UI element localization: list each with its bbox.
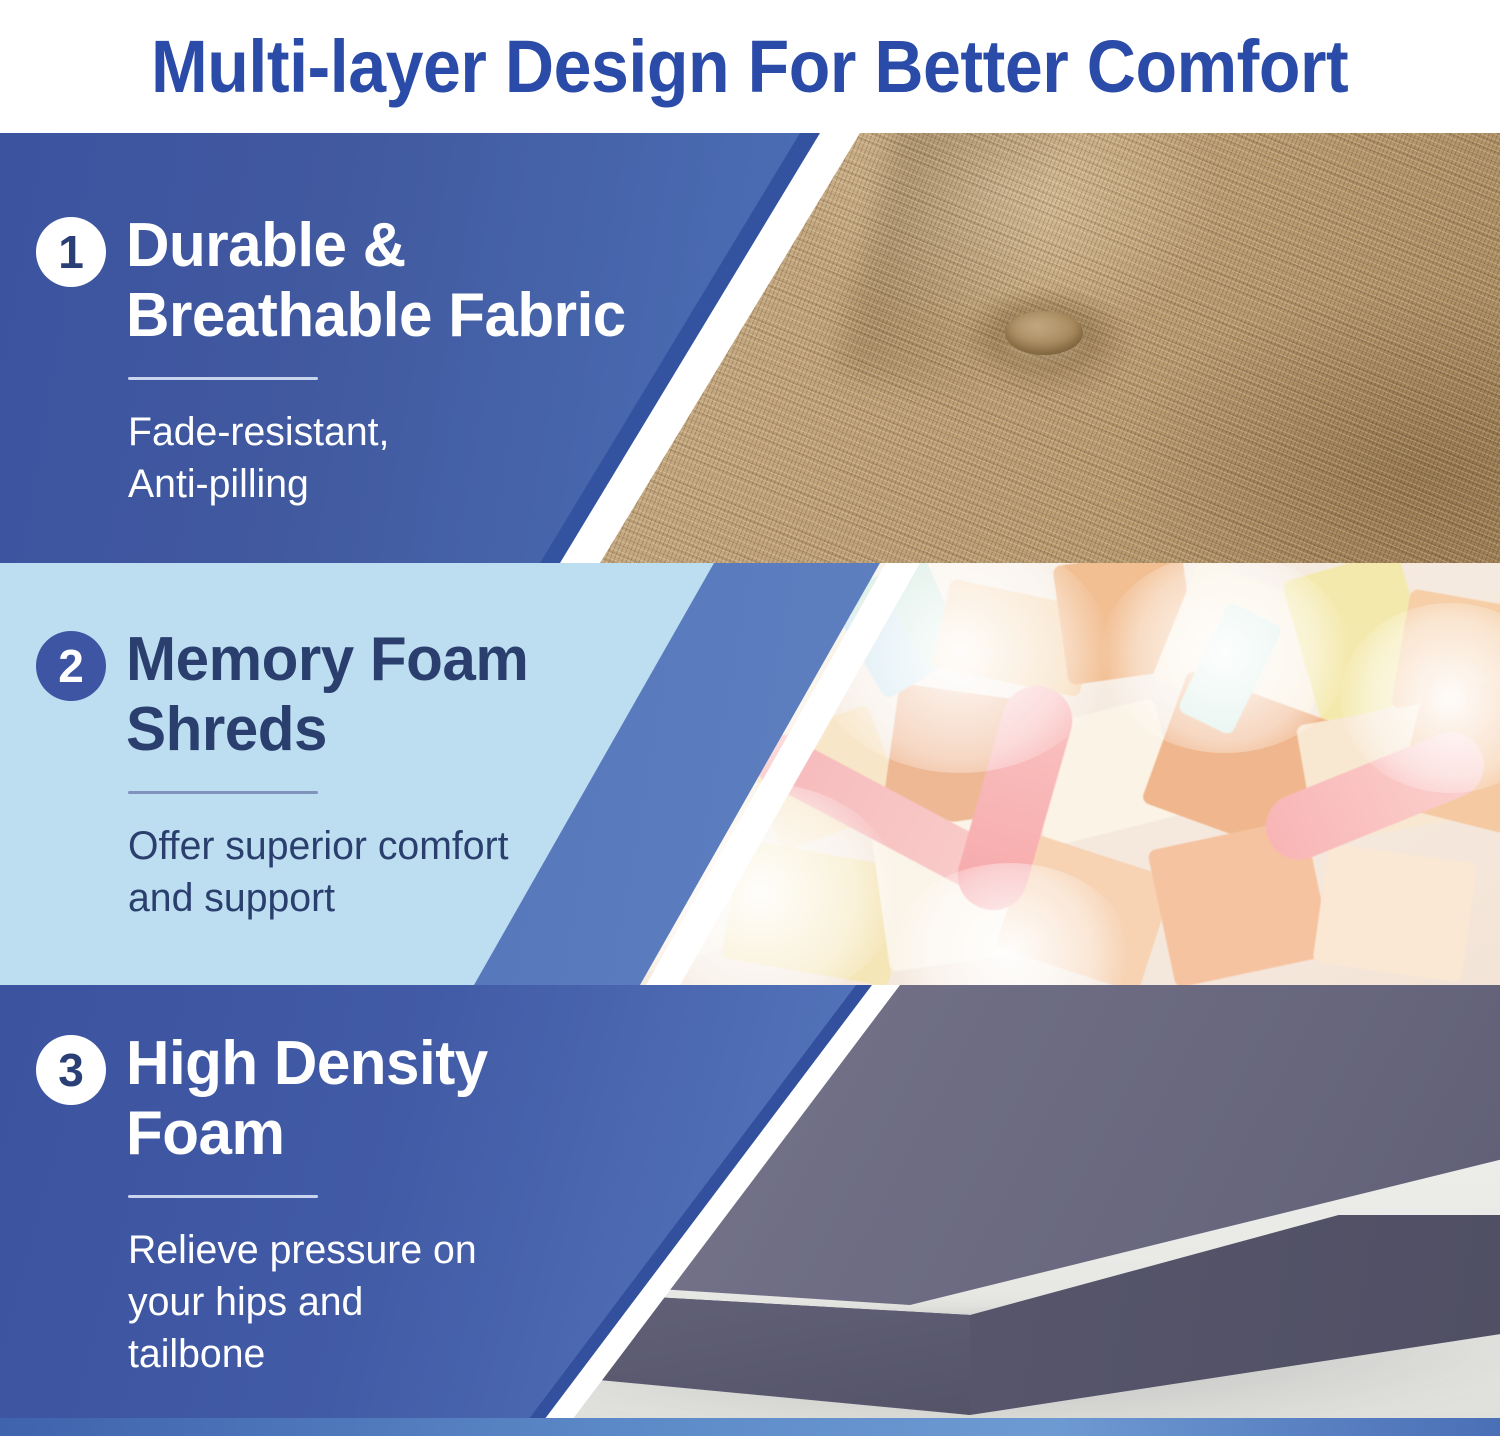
feature-3-heading-line-2: Foam	[126, 1099, 488, 1169]
feature-3-subtext-line-2: your hips and	[128, 1276, 645, 1328]
feature-3-head-row: 3 High Density Foam	[36, 1029, 656, 1169]
feature-2-subtext-line-1: Offer superior comfort	[128, 820, 645, 872]
feature-2-head-row: 2 Memory Foam Shreds	[36, 625, 656, 765]
feature-1-heading-line-2: Breathable Fabric	[126, 281, 626, 351]
feature-section-3: 3 High Density Foam Relieve pressure on …	[0, 985, 1500, 1436]
feature-2-subtext: Offer superior comfort and support	[128, 820, 645, 924]
feature-1-subtext-line-2: Anti-pilling	[128, 458, 645, 510]
feature-3-divider	[128, 1195, 318, 1198]
page-title: Multi-layer Design For Better Comfort	[151, 27, 1348, 107]
bottom-accent-strip	[0, 1418, 1500, 1436]
feature-3-subtext-line-3: tailbone	[128, 1328, 645, 1380]
title-bar: Multi-layer Design For Better Comfort	[0, 0, 1500, 133]
tuft-button	[1005, 311, 1083, 355]
step-badge-2: 2	[36, 631, 106, 701]
feature-1-divider	[128, 377, 318, 380]
feature-2-content: 2 Memory Foam Shreds Offer superior comf…	[36, 625, 656, 924]
feature-1-subtext: Fade-resistant, Anti-pilling	[128, 406, 645, 510]
feature-3-heading-line-1: High Density	[126, 1029, 488, 1099]
feature-1-content: 1 Durable & Breathable Fabric Fade-resis…	[36, 211, 656, 510]
step-badge-1: 1	[36, 217, 106, 287]
feature-3-heading: High Density Foam	[126, 1029, 488, 1169]
step-badge-3: 3	[36, 1035, 106, 1105]
feature-1-head-row: 1 Durable & Breathable Fabric	[36, 211, 656, 351]
feature-3-content: 3 High Density Foam Relieve pressure on …	[36, 1029, 656, 1380]
feature-1-heading-line-1: Durable &	[126, 211, 626, 281]
feature-3-subtext-line-1: Relieve pressure on	[128, 1224, 645, 1276]
feature-1-subtext-line-1: Fade-resistant,	[128, 406, 645, 458]
feature-1-heading: Durable & Breathable Fabric	[126, 211, 626, 351]
feature-section-1: 1 Durable & Breathable Fabric Fade-resis…	[0, 133, 1500, 563]
feature-2-divider	[128, 791, 318, 794]
feature-3-subtext: Relieve pressure on your hips and tailbo…	[128, 1224, 645, 1380]
feature-2-heading-line-1: Memory Foam	[126, 625, 528, 695]
foam-shred	[1312, 843, 1477, 983]
feature-section-2: 2 Memory Foam Shreds Offer superior comf…	[0, 563, 1500, 985]
feature-2-heading-line-2: Shreds	[126, 695, 528, 765]
feature-2-subtext-line-2: and support	[128, 872, 645, 924]
feature-2-heading: Memory Foam Shreds	[126, 625, 528, 765]
